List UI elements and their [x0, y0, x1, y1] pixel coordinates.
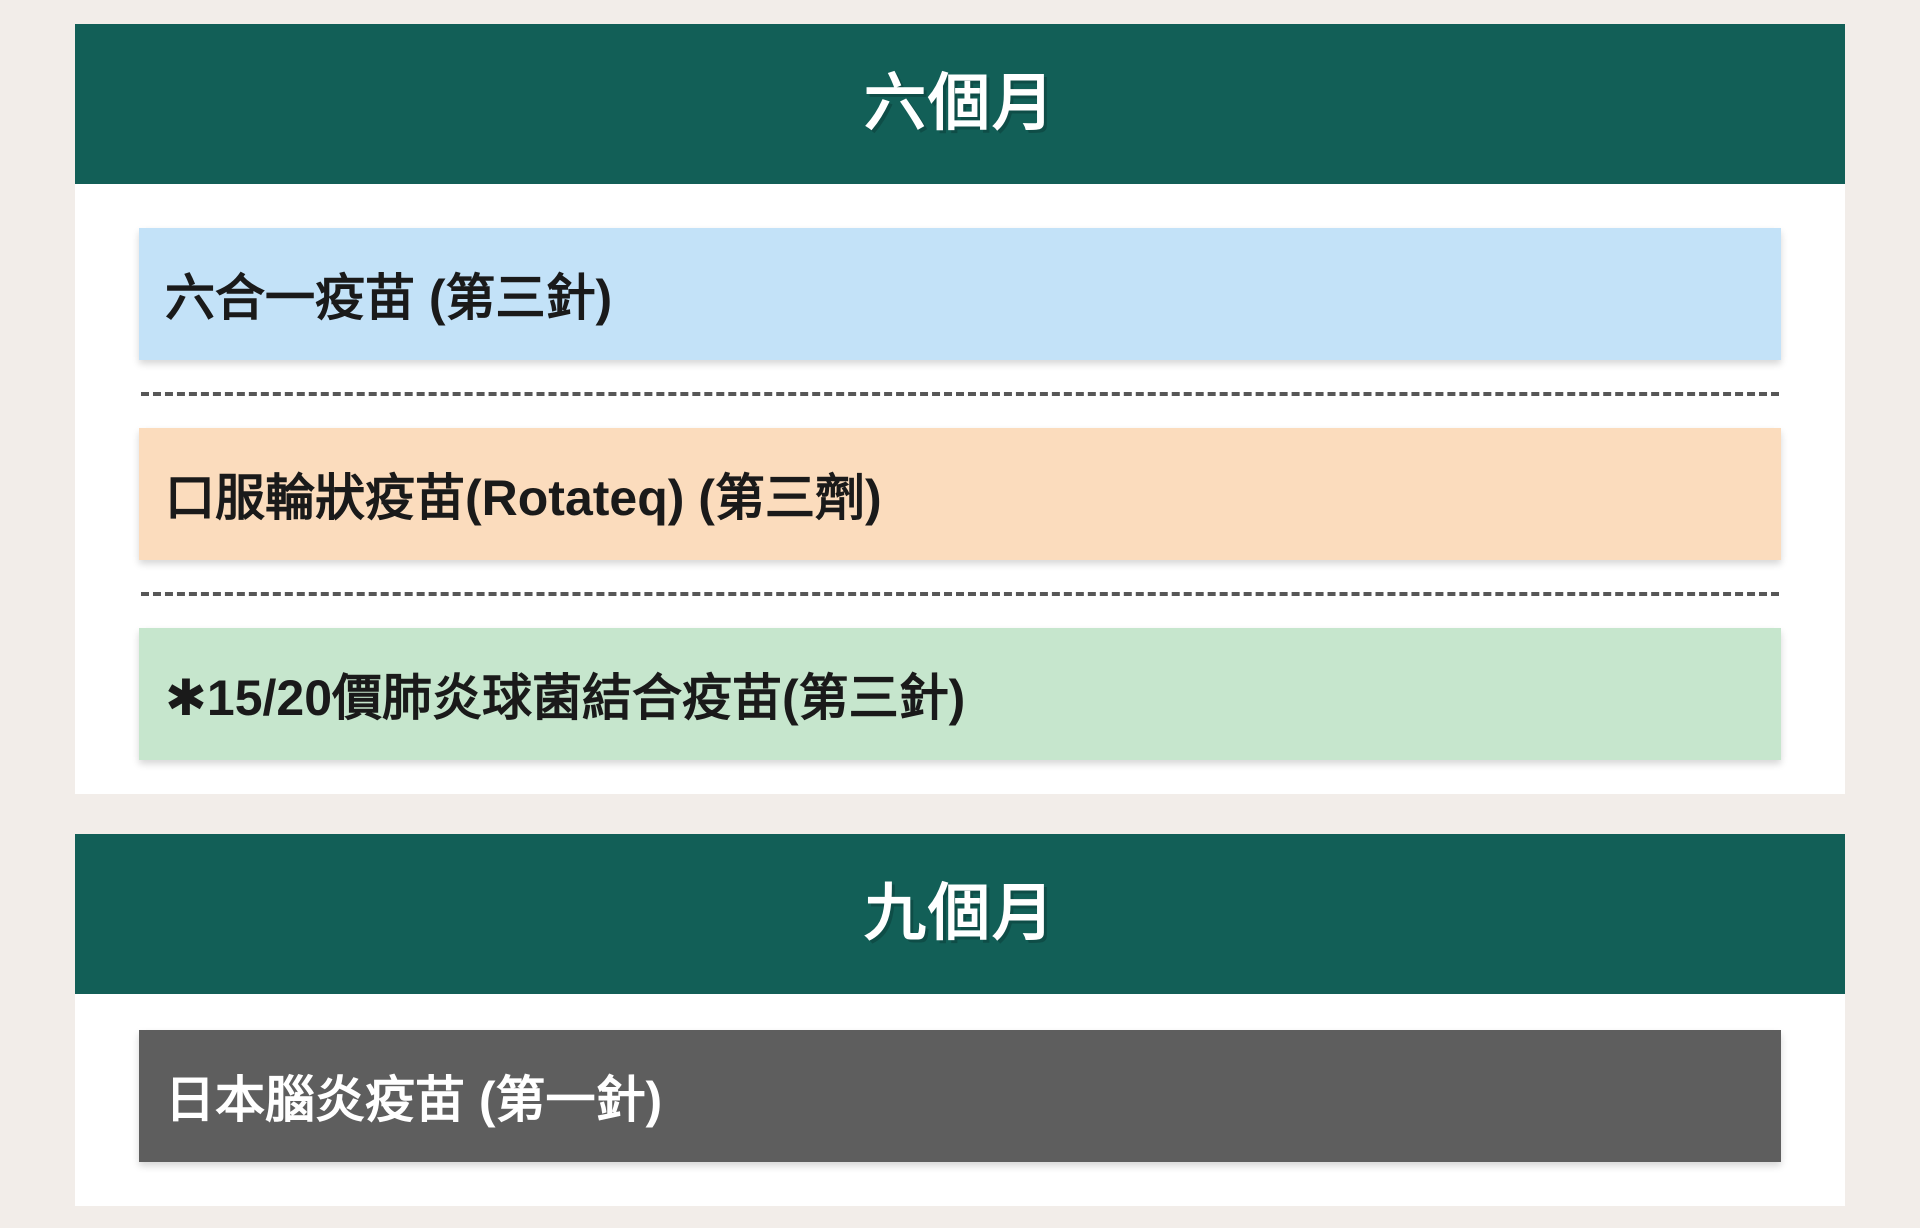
vaccine-label: 六合一疫苗 (第三針) — [165, 258, 612, 330]
vaccine-label: 日本腦炎疫苗 (第一針) — [165, 1060, 662, 1132]
section-header-nine-months: 九個月 — [75, 834, 1845, 994]
section-body-nine-months: 日本腦炎疫苗 (第一針) — [75, 994, 1845, 1206]
section-body-six-months: 六合一疫苗 (第三針) 口服輪狀疫苗(Rotateq) (第三劑) ✱15/20… — [75, 184, 1845, 794]
vaccine-label: 口服輪狀疫苗(Rotateq) (第三劑) — [165, 458, 882, 530]
vaccine-row-rotateq[interactable]: 口服輪狀疫苗(Rotateq) (第三劑) — [139, 428, 1781, 560]
vaccine-row-hexavalent[interactable]: 六合一疫苗 (第三針) — [139, 228, 1781, 360]
vaccination-schedule-page: 六個月 六合一疫苗 (第三針) 口服輪狀疫苗(Rotateq) (第三劑) ✱1… — [0, 0, 1920, 1228]
top-spacer — [0, 0, 1920, 24]
vaccine-row-japanese-encephalitis[interactable]: 日本腦炎疫苗 (第一針) — [139, 1030, 1781, 1162]
vaccine-label: ✱15/20價肺炎球菌結合疫苗(第三針) — [165, 658, 965, 730]
row-divider — [141, 592, 1779, 596]
section-header-six-months: 六個月 — [75, 24, 1845, 184]
vaccine-row-pneumococcal[interactable]: ✱15/20價肺炎球菌結合疫苗(第三針) — [139, 628, 1781, 760]
schedule-section-nine-months: 九個月 日本腦炎疫苗 (第一針) — [75, 834, 1845, 1206]
section-spacer — [0, 794, 1920, 834]
schedule-section-six-months: 六個月 六合一疫苗 (第三針) 口服輪狀疫苗(Rotateq) (第三劑) ✱1… — [75, 24, 1845, 794]
row-divider — [141, 392, 1779, 396]
